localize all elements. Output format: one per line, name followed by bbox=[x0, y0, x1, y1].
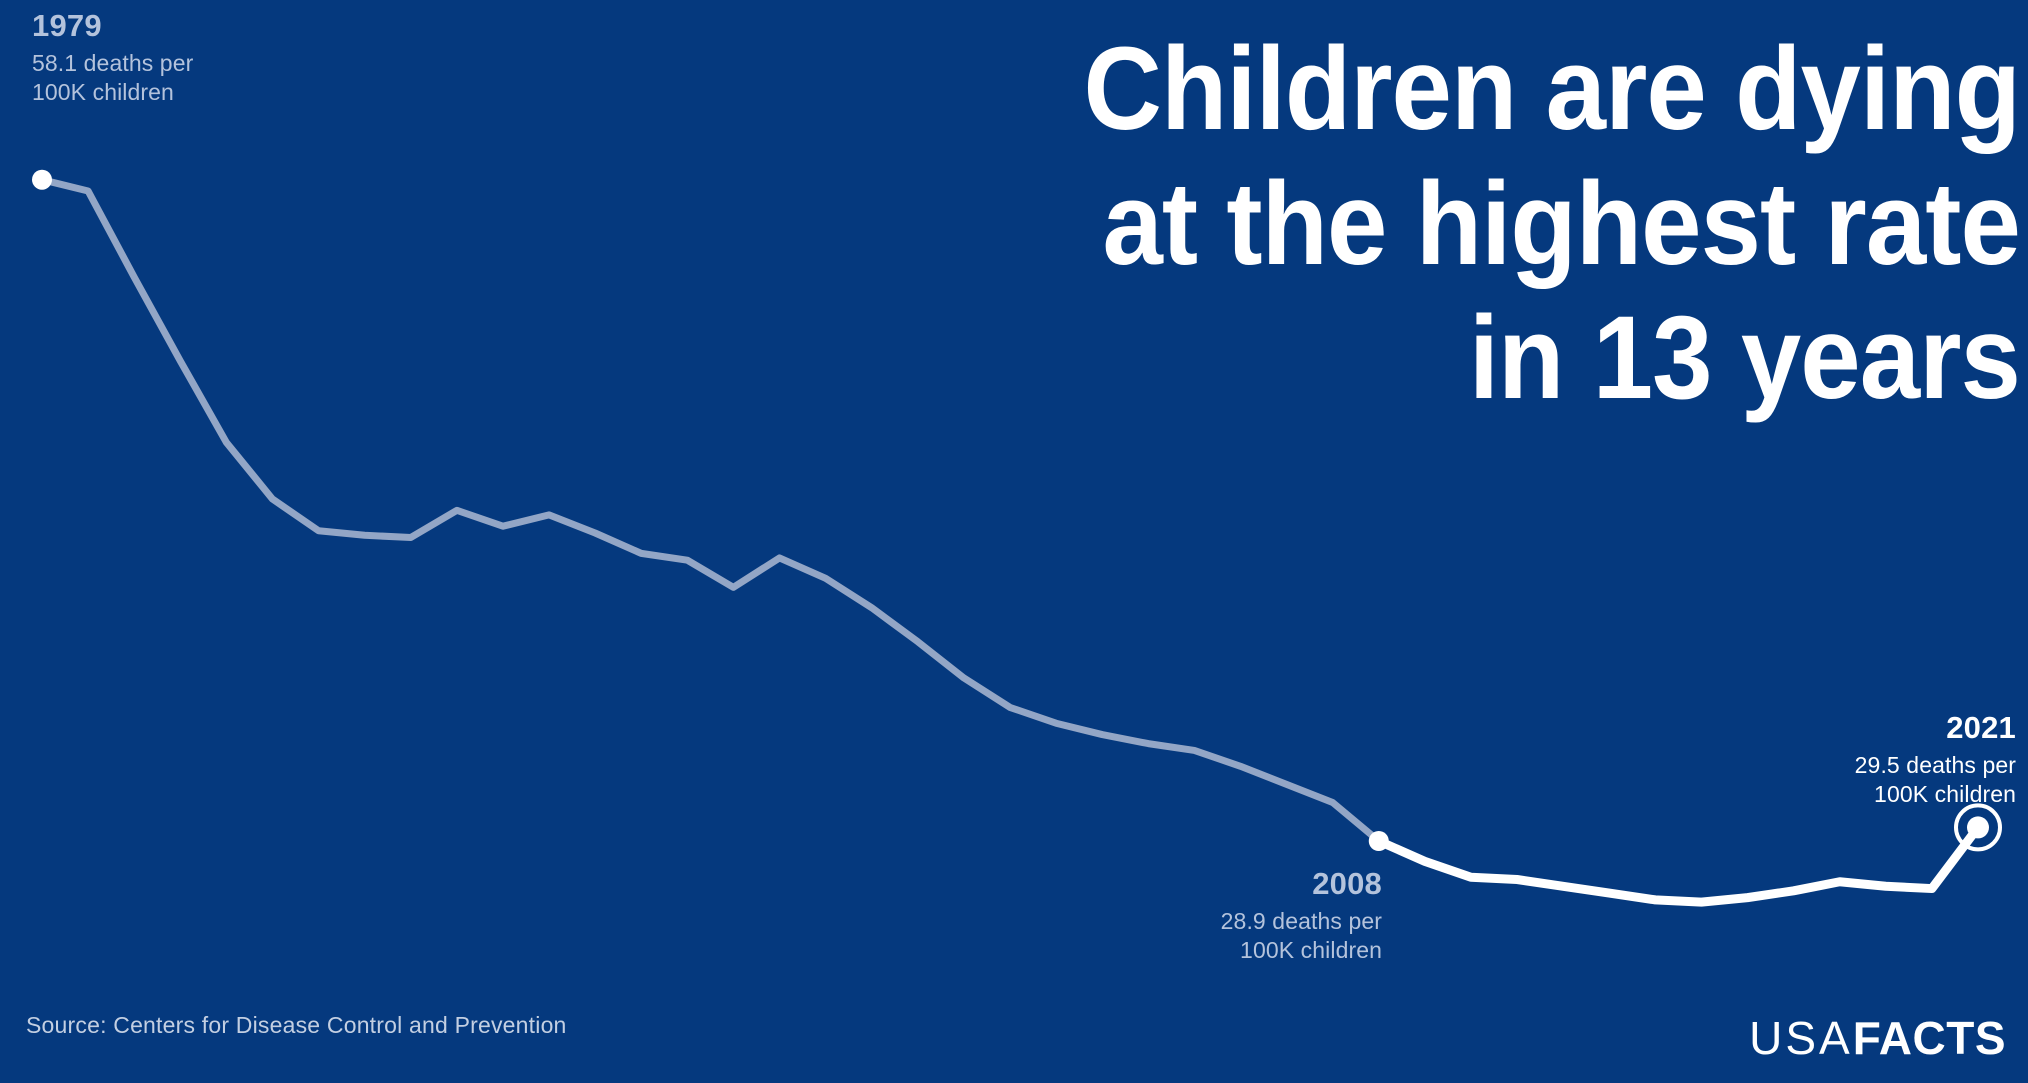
annotation-2008: 2008 28.9 deaths per 100K children bbox=[1150, 866, 1382, 966]
usafacts-logo: USAFACTS bbox=[1749, 1015, 2006, 1061]
annotation-2008-value-line1: 28.9 deaths per bbox=[1150, 907, 1382, 936]
annotation-2021-year: 2021 bbox=[1720, 710, 2016, 746]
annotation-1979-year: 1979 bbox=[32, 8, 193, 44]
annotation-2021-value-line2: 100K children bbox=[1720, 780, 2016, 809]
start-marker bbox=[32, 170, 52, 190]
annotation-2008-year: 2008 bbox=[1150, 866, 1382, 902]
annotation-2021-value-line1: 29.5 deaths per bbox=[1720, 751, 2016, 780]
annotation-2021: 2021 29.5 deaths per 100K children bbox=[1720, 710, 2016, 810]
logo-text-facts: FACTS bbox=[1853, 1012, 2006, 1064]
page-title: Children are dying at the highest rate i… bbox=[907, 22, 2020, 426]
headline-line-1: Children are dying bbox=[907, 22, 2020, 157]
infographic-canvas: Children are dying at the highest rate i… bbox=[0, 0, 2028, 1083]
midpoint-marker bbox=[1369, 831, 1389, 851]
annotation-1979-value-line1: 58.1 deaths per bbox=[32, 49, 193, 78]
annotation-1979: 1979 58.1 deaths per 100K children bbox=[32, 8, 193, 108]
series-line-recent bbox=[1379, 827, 1978, 902]
annotation-2008-value-line2: 100K children bbox=[1150, 936, 1382, 965]
headline-line-2: at the highest rate bbox=[907, 157, 2020, 292]
end-marker bbox=[1967, 816, 1989, 838]
source-note: Source: Centers for Disease Control and … bbox=[26, 1012, 567, 1039]
annotation-1979-value-line2: 100K children bbox=[32, 78, 193, 107]
logo-text-usa: USA bbox=[1749, 1012, 1853, 1064]
headline-line-3: in 13 years bbox=[907, 291, 2020, 426]
